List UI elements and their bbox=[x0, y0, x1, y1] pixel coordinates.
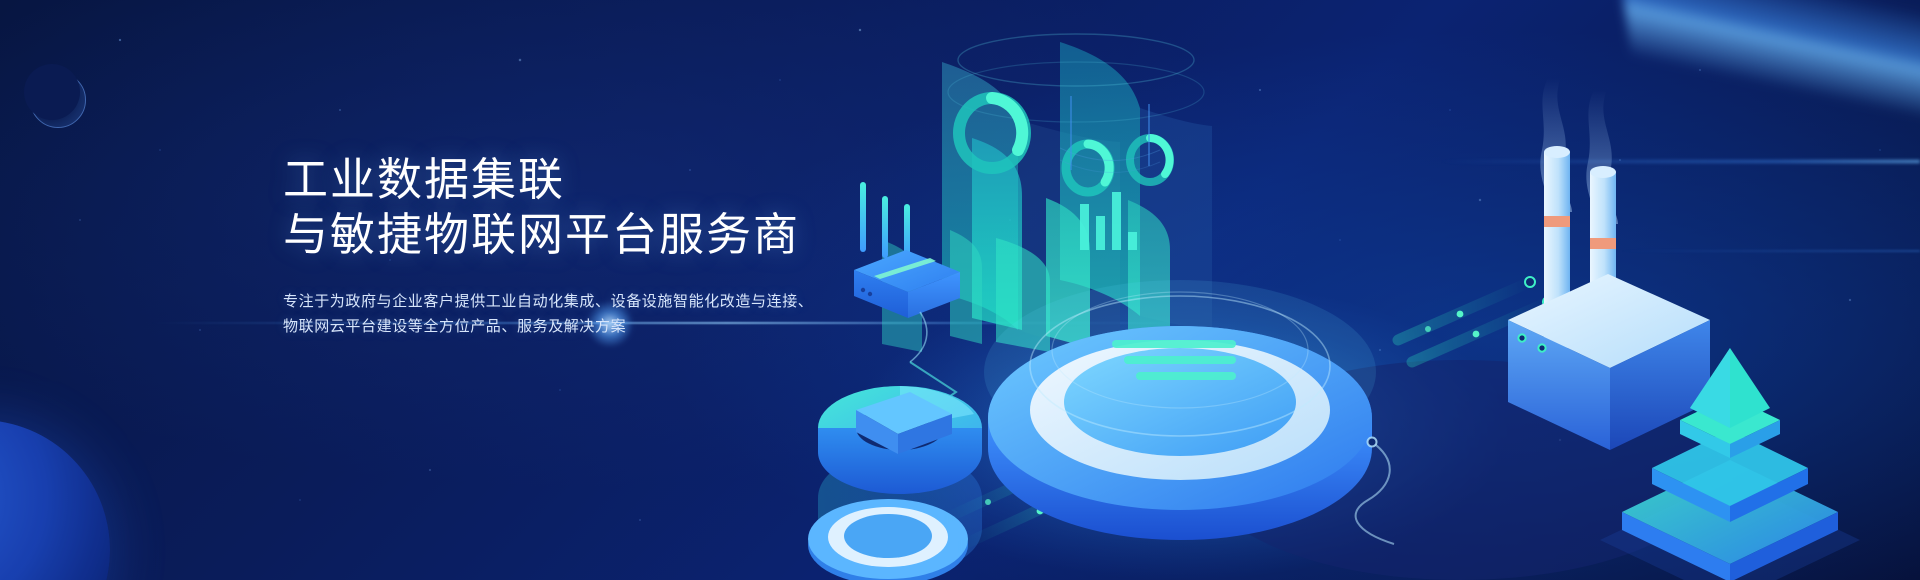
subtitle-line-1: 专注于为政府与企业客户提供工业自动化集成、设备设施智能化改造与连接、 bbox=[283, 289, 813, 314]
central-disc-platform-icon bbox=[984, 280, 1376, 540]
small-base-disc-icon bbox=[808, 499, 968, 580]
hero-subtitle: 专注于为政府与企业客户提供工业自动化集成、设备设施智能化改造与连接、 物联网云平… bbox=[283, 289, 813, 339]
headline-line-2: 与敏捷物联网平台服务商 bbox=[283, 207, 813, 262]
crescent-moon-icon bbox=[30, 72, 86, 128]
isometric-iot-platform-illustration bbox=[760, 0, 1920, 580]
headline-line-1: 工业数据集联 bbox=[283, 152, 813, 207]
page-title: 工业数据集联 与敏捷物联网平台服务商 bbox=[283, 152, 813, 262]
factory-smokestack-icon bbox=[1508, 78, 1710, 450]
hero-banner: 工业数据集联 与敏捷物联网平台服务商 专注于为政府与企业客户提供工业自动化集成、… bbox=[0, 0, 1920, 580]
subtitle-line-2: 物联网云平台建设等全方位产品、服务及解决方案 bbox=[283, 314, 813, 339]
hero-text-block: 工业数据集联 与敏捷物联网平台服务商 专注于为政府与企业客户提供工业自动化集成、… bbox=[283, 152, 813, 339]
